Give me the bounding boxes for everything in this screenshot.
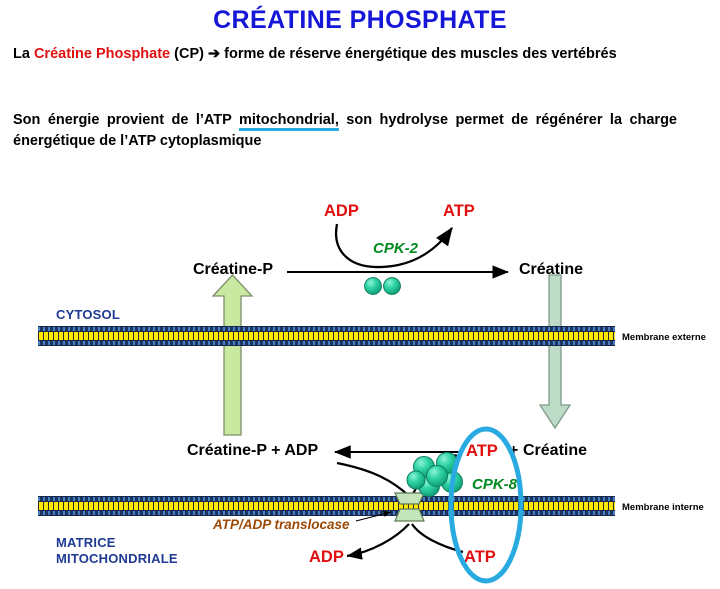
creatine-phosphate-shuttle-diagram: Membrane externe Membrane interne CYTOSO…: [0, 180, 720, 589]
page-title: CRÉATINE PHOSPHATE: [0, 6, 720, 35]
paragraph1-highlight: Créatine Phosphate: [34, 46, 170, 62]
atp-highlight-ellipse: [451, 429, 521, 581]
paragraph1-lead: La: [13, 46, 34, 62]
paragraph2-underlined-term: mitochondrial,: [239, 112, 339, 131]
cytosolic-cofactor-curve: [336, 224, 452, 267]
paragraph1-rest: (CP) ➔ forme de réserve énergétique des …: [170, 46, 617, 62]
cpk-2-enzyme-spheres: [365, 278, 401, 295]
translocase-to-matrix-adp-curve: [347, 524, 409, 556]
diagram-vector-overlay: [0, 180, 720, 589]
translocase-pointer-arrow: [356, 512, 391, 521]
slide-canvas: CRÉATINE PHOSPHATE La Créatine Phosphate…: [0, 0, 720, 589]
paragraph-definition: La Créatine Phosphate (CP) ➔ forme de ré…: [13, 44, 677, 65]
paragraph2-before: Son énergie provient de l’ATP: [13, 112, 239, 128]
creatine-p-adp-to-translocase-curve: [337, 463, 409, 496]
paragraph-energy: Son énergie provient de l’ATP mitochondr…: [13, 110, 677, 152]
atp-adp-translocase-channel: [395, 493, 424, 521]
